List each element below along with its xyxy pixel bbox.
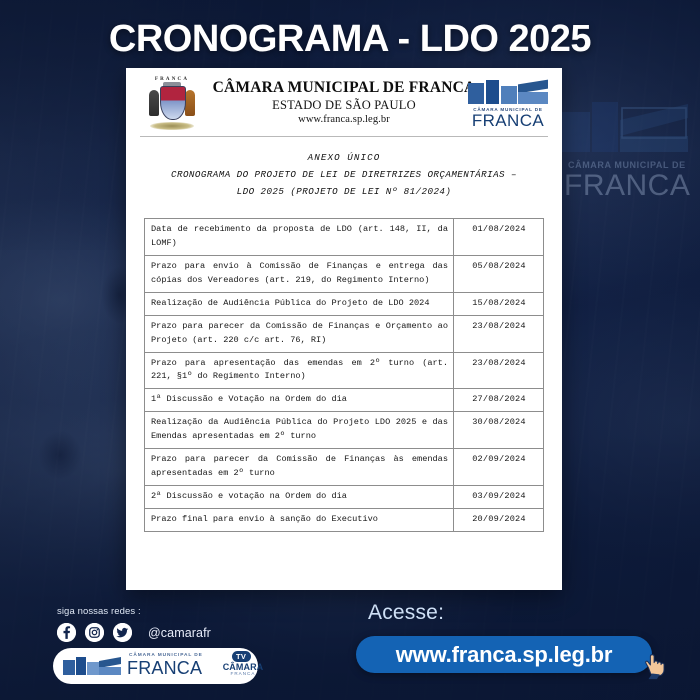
schedule-description-cell: Prazo para parecer da Comissão de Finanç…: [145, 449, 454, 486]
schedule-date-cell: 03/09/2024: [454, 485, 544, 508]
schedule-description-cell: 1ª Discussão e Votação na Ordem do dia: [145, 389, 454, 412]
header-divider: [140, 136, 548, 137]
schedule-date-cell: 30/08/2024: [454, 412, 544, 449]
crest-figure-right: [185, 90, 195, 116]
hand-cursor-icon: [641, 650, 671, 680]
annex-line-2: LDO 2025 (PROJETO DE LEI Nº 81/2024): [126, 183, 562, 200]
schedule-description-cell: Prazo final para envio à sanção do Execu…: [145, 508, 454, 531]
schedule-description-cell: Prazo para envio à Comissão de Finanças …: [145, 255, 454, 292]
schedule-table-body: Data de recebimento da proposta de LDO (…: [145, 219, 544, 532]
schedule-description-cell: 2ª Discussão e votação na Ordem do dia: [145, 485, 454, 508]
tv-franca-label: FRANCA: [221, 671, 265, 676]
schedule-table-wrapper: Data de recebimento da proposta de LDO (…: [144, 218, 544, 532]
page-title: CRONOGRAMA - LDO 2025: [0, 18, 700, 61]
social-block: siga nossas redes :: [57, 606, 287, 642]
social-label: siga nossas redes :: [57, 606, 287, 617]
tv-badge-label: TV: [232, 651, 251, 662]
schedule-date-cell: 15/08/2024: [454, 292, 544, 315]
table-row: Prazo final para envio à sanção do Execu…: [145, 508, 544, 531]
website-url-text: www.franca.sp.leg.br: [396, 642, 612, 668]
schedule-description-cell: Realização da Audiência Pública do Proje…: [145, 412, 454, 449]
table-row: Prazo para parecer da Comissão de Finanç…: [145, 315, 544, 352]
schedule-description-cell: Prazo para parecer da Comissão de Finanç…: [145, 315, 454, 352]
coat-of-arms-icon: FRANCA: [144, 77, 200, 131]
table-row: 1ª Discussão e Votação na Ordem do dia27…: [145, 389, 544, 412]
schedule-description-cell: Data de recebimento da proposta de LDO (…: [145, 219, 454, 256]
schedule-date-cell: 20/09/2024: [454, 508, 544, 531]
poster-canvas: CÂMARA MUNICIPAL DE FRANCA CRONOGRAMA - …: [0, 0, 700, 700]
facebook-icon[interactable]: [57, 623, 76, 642]
table-row: Prazo para parecer da Comissão de Finanç…: [145, 449, 544, 486]
schedule-description-cell: Realização de Audiência Pública do Proje…: [145, 292, 454, 315]
schedule-date-cell: 02/09/2024: [454, 449, 544, 486]
schedule-date-cell: 01/08/2024: [454, 219, 544, 256]
table-row: Realização da Audiência Pública do Proje…: [145, 412, 544, 449]
pill-building-icon: [63, 657, 121, 676]
schedule-description-cell: Prazo para apresentação das emendas em 2…: [145, 352, 454, 389]
tv-camara-logo: TV CÂMARA FRANCA: [221, 651, 265, 681]
schedule-date-cell: 05/08/2024: [454, 255, 544, 292]
annex-line-1: CRONOGRAMA DO PROJETO DE LEI DE DIRETRIZ…: [126, 166, 562, 183]
schedule-date-cell: 23/08/2024: [454, 352, 544, 389]
social-handle[interactable]: @camarafr: [148, 626, 211, 640]
social-icons-row: @camarafr: [57, 623, 287, 642]
table-row: Prazo para envio à Comissão de Finanças …: [145, 255, 544, 292]
document-header: FRANCA CÂMARA MUNICIPAL DE FRANCA ESTADO…: [126, 68, 562, 130]
franca-logo: CÂMARA MUNICIPAL DE FRANCA: [466, 80, 550, 128]
pill-logo-big-text: FRANCA: [127, 658, 202, 679]
acesse-label: Acesse:: [368, 601, 444, 625]
table-row: Prazo para apresentação das emendas em 2…: [145, 352, 544, 389]
footer-logo-pill: CÂMARA MUNICIPAL DE FRANCA TV CÂMARA FRA…: [53, 648, 258, 684]
annex-block: ANEXO ÚNICO CRONOGRAMA DO PROJETO DE LEI…: [126, 149, 562, 200]
instagram-icon[interactable]: [85, 623, 104, 642]
crest-shield: [160, 86, 186, 120]
schedule-date-cell: 27/08/2024: [454, 389, 544, 412]
document-sheet: FRANCA CÂMARA MUNICIPAL DE FRANCA ESTADO…: [126, 68, 562, 590]
annex-title: ANEXO ÚNICO: [126, 149, 562, 166]
crest-figure-left: [149, 90, 159, 116]
table-row: 2ª Discussão e votação na Ordem do dia03…: [145, 485, 544, 508]
website-url-button[interactable]: www.franca.sp.leg.br: [356, 636, 652, 673]
franca-building-icon: [468, 80, 548, 106]
table-row: Data de recebimento da proposta de LDO (…: [145, 219, 544, 256]
franca-logo-big-text: FRANCA: [466, 111, 550, 131]
crest-base: [150, 122, 194, 130]
pill-logo-text: CÂMARA MUNICIPAL DE FRANCA: [127, 653, 215, 679]
table-row: Realização de Audiência Pública do Proje…: [145, 292, 544, 315]
schedule-table: Data de recebimento da proposta de LDO (…: [144, 218, 544, 532]
twitter-icon[interactable]: [113, 623, 132, 642]
schedule-date-cell: 23/08/2024: [454, 315, 544, 352]
